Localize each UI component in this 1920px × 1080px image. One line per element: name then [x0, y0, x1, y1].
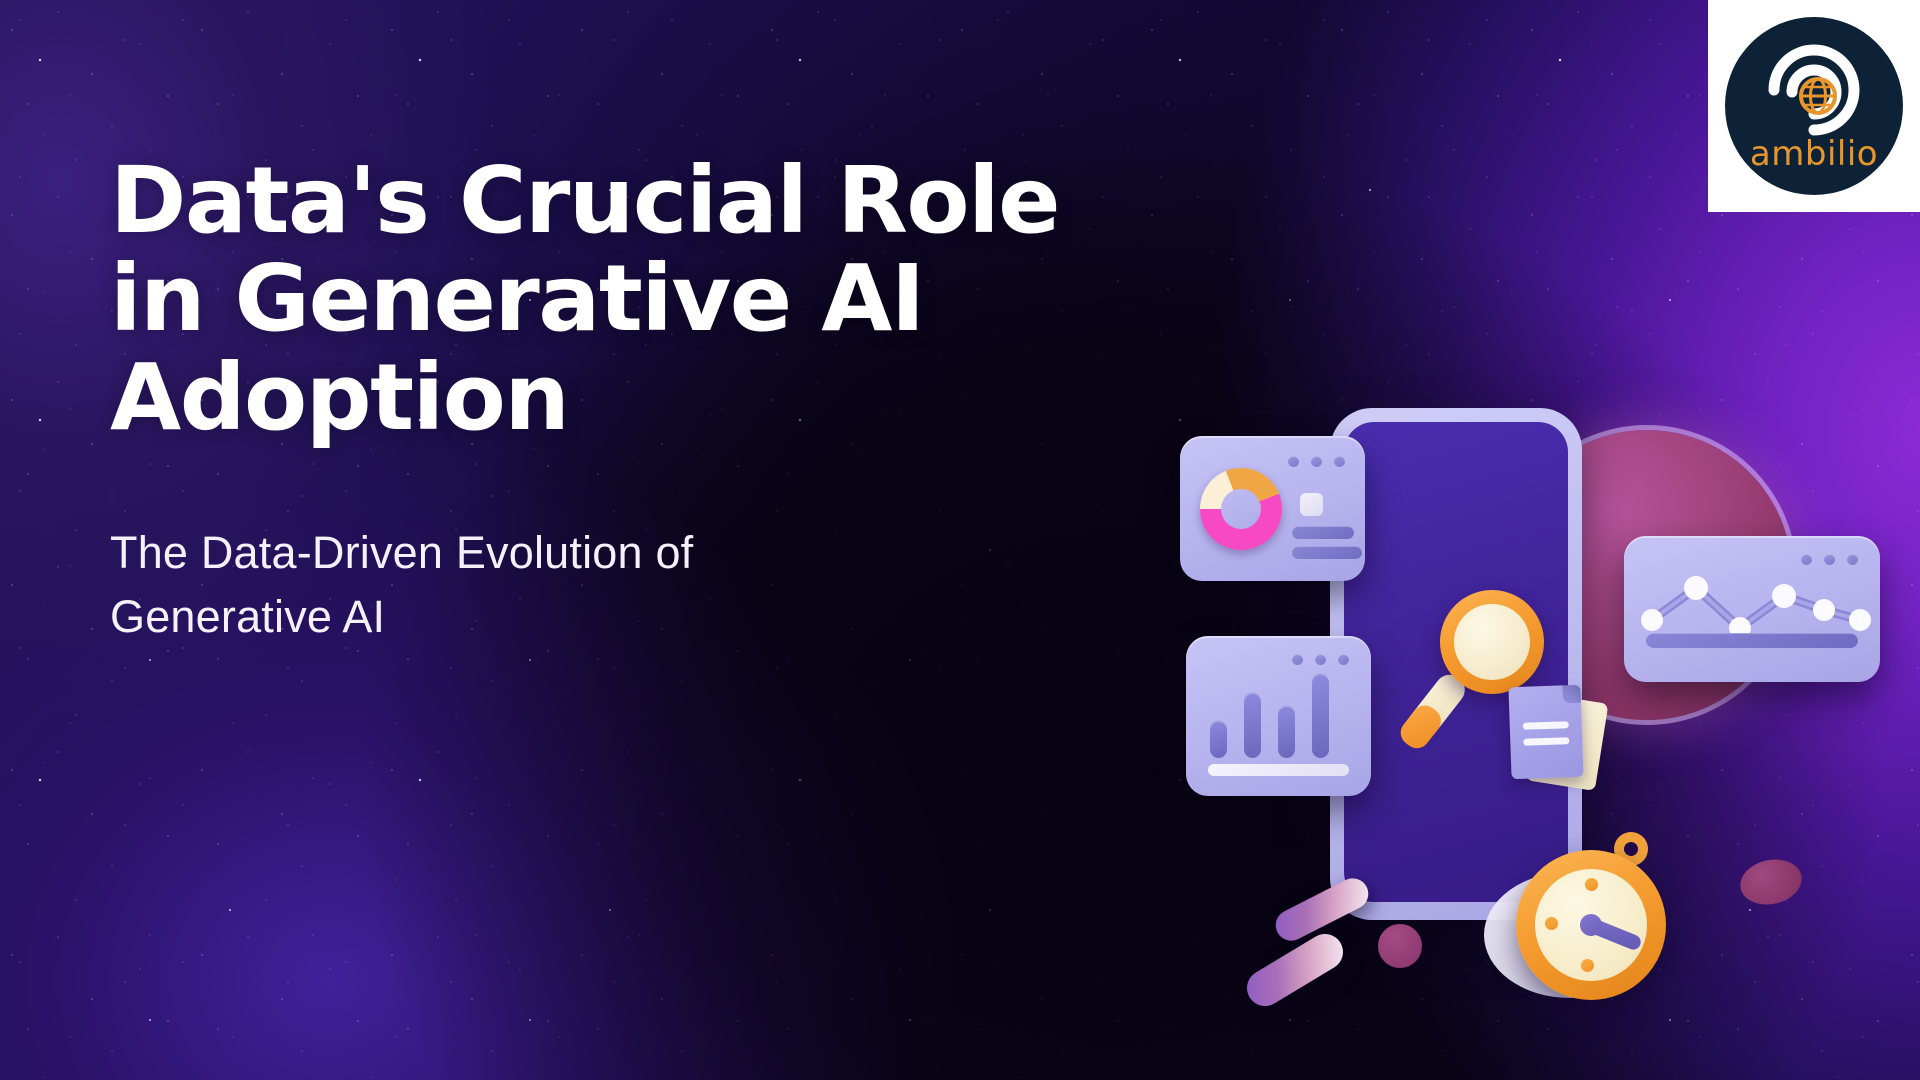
card-dots-bars [1292, 654, 1349, 665]
text-line [1292, 546, 1362, 559]
magnifier-lens [1454, 604, 1530, 680]
document-line [1523, 721, 1569, 730]
dot-icon [1311, 456, 1322, 467]
legend-swatch [1300, 493, 1323, 516]
document-line [1523, 737, 1569, 746]
chart-baseline [1208, 764, 1349, 776]
stopwatch-face [1535, 869, 1647, 981]
card-dots-donut [1288, 456, 1345, 467]
slide-canvas: Data's Crucial Role in Generative AI Ado… [0, 0, 1920, 1080]
title-line-1: Data's Crucial Role [110, 152, 1170, 250]
stopwatch-icon [1510, 828, 1692, 1010]
text-line [1292, 526, 1354, 539]
stopwatch-hub [1580, 914, 1602, 936]
dot-icon [1292, 654, 1303, 665]
dot-icon [1315, 654, 1326, 665]
document-fold [1562, 685, 1581, 704]
stopwatch-bezel [1516, 850, 1666, 1000]
line-chart-card [1624, 536, 1880, 682]
title-line-3: Adoption [110, 349, 1170, 447]
dot-icon [1338, 654, 1349, 665]
donut-chart-card [1180, 436, 1365, 581]
bar-chart-card [1186, 636, 1371, 796]
stopwatch-pip [1545, 917, 1558, 930]
logo-badge[interactable]: ambilio [1708, 0, 1920, 212]
floating-blob-decor [1736, 854, 1806, 910]
page-title: Data's Crucial Role in Generative AI Ado… [110, 152, 1170, 447]
document-front-icon [1508, 685, 1583, 779]
donut-chart-graphic [1200, 468, 1282, 550]
dot-icon [1334, 456, 1345, 467]
logo-wordmark: ambilio [1725, 134, 1903, 174]
chart-baseline [1646, 633, 1858, 648]
data-analytics-illustration [1180, 408, 1920, 1080]
stopwatch-pip [1581, 959, 1594, 972]
bar [1210, 720, 1227, 758]
bar [1244, 692, 1261, 758]
bar-chart-graphic [1210, 666, 1329, 758]
title-line-2: in Generative AI [110, 250, 1170, 348]
magnifier-ring [1440, 590, 1544, 694]
bar [1278, 705, 1295, 758]
stopwatch-pip [1585, 878, 1598, 891]
page-subtitle: The Data-Driven Evolution of Generative … [110, 521, 870, 649]
logo-circle: ambilio [1725, 17, 1903, 195]
bar [1312, 673, 1329, 758]
dot-icon [1288, 456, 1299, 467]
floating-blob-decor [1378, 924, 1422, 968]
ambilio-spiral-globe-icon [1758, 34, 1870, 143]
headline-block: Data's Crucial Role in Generative AI Ado… [110, 152, 1170, 649]
